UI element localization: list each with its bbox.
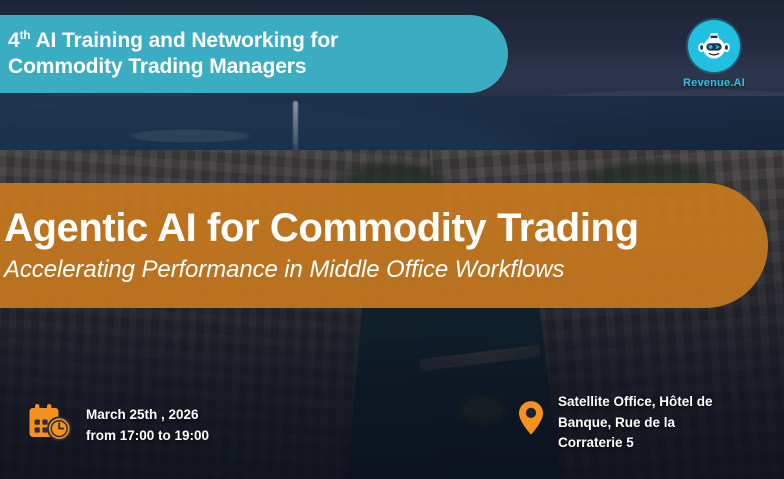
- calendar-clock-icon: [28, 404, 72, 447]
- main-title-banner: Agentic AI for Commodity Trading Acceler…: [0, 183, 768, 308]
- series-title: 4th AI Training and Networking for Commo…: [0, 28, 378, 81]
- series-title-ordinal: th: [20, 29, 31, 42]
- venue-line2: Banque, Rue de la: [558, 415, 675, 430]
- event-venue: Satellite Office, Hôtel de Banque, Rue d…: [518, 392, 768, 454]
- map-pin-icon: [518, 392, 544, 441]
- robot-face-icon: [688, 20, 740, 72]
- venue-line3: Corraterie 5: [558, 435, 634, 450]
- series-title-number: 4: [8, 29, 20, 52]
- schedule-date: March 25th , 2026: [86, 407, 199, 422]
- series-title-line1: AI Training and Networking for: [30, 29, 338, 52]
- schedule-time: from 17:00 to 19:00: [86, 428, 209, 443]
- series-title-banner: 4th AI Training and Networking for Commo…: [0, 15, 508, 93]
- series-title-line2: Commodity Trading Managers: [8, 55, 306, 78]
- brand-logo-label: Revenue.AI: [683, 77, 745, 89]
- brand-logo[interactable]: Revenue.AI: [668, 20, 760, 89]
- event-banner: aerial-view-geneva-lake-jet-deau 4th AI …: [0, 0, 784, 479]
- venue-line1: Satellite Office, Hôtel de: [558, 394, 713, 409]
- venue-text: Satellite Office, Hôtel de Banque, Rue d…: [558, 392, 713, 454]
- event-schedule: March 25th , 2026 from 17:00 to 19:00: [28, 404, 209, 447]
- schedule-text: March 25th , 2026 from 17:00 to 19:00: [86, 405, 209, 446]
- main-title: Agentic AI for Commodity Trading: [4, 207, 698, 250]
- main-subtitle: Accelerating Performance in Middle Offic…: [4, 257, 698, 284]
